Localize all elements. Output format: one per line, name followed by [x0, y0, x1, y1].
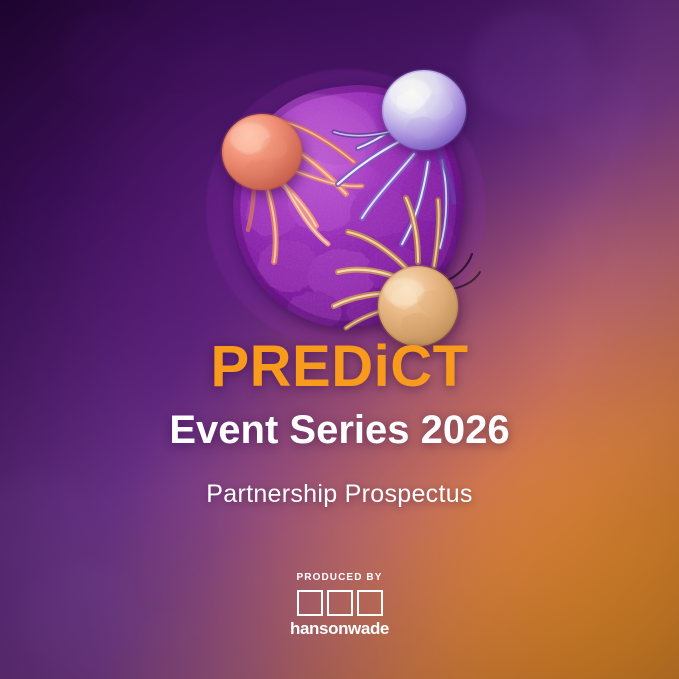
prospectus-cover-page: PREDiCT Event Series 2026 Partnership Pr…: [0, 0, 679, 679]
producer-block: PRODUCED BY hansonwade: [0, 573, 679, 637]
hansonwade-wordmark: hansonwade: [290, 620, 389, 637]
logo-square-1: [297, 590, 323, 616]
title-block: PREDiCT Event Series 2026 Partnership Pr…: [0, 338, 679, 507]
logo-square-2: [327, 590, 353, 616]
page-title: PREDiCT: [0, 338, 679, 396]
logo-square-3: [357, 590, 383, 616]
hero-cell-artwork: [196, 44, 496, 354]
page-subtitle: Event Series 2026: [0, 410, 679, 450]
produced-by-label: PRODUCED BY: [297, 573, 383, 583]
three-squares-icon: [297, 590, 383, 616]
page-tagline: Partnership Prospectus: [0, 482, 679, 507]
